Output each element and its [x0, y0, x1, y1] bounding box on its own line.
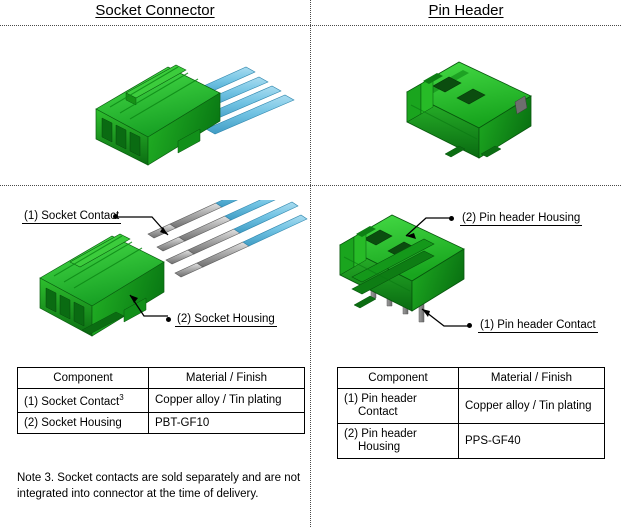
socket-spec-table: Component Material / Finish (1) Socket C…: [17, 367, 305, 434]
socket-housing-body: [96, 65, 220, 165]
table-row: (1) Pin header Contact Copper alloy / Ti…: [338, 389, 605, 424]
callout-socket-contact-leader: [116, 208, 176, 240]
table-cell-component: (2) Socket Housing: [18, 412, 149, 433]
table-row: (1) Socket Contact3 Copper alloy / Tin p…: [18, 389, 305, 413]
table-row-header: Component Material / Finish: [338, 368, 605, 389]
table-header-material: Material / Finish: [149, 368, 305, 389]
table-cell-material: Copper alloy / Tin plating: [149, 389, 305, 413]
footnote-text: Note 3. Socket contacts are sold separat…: [17, 470, 307, 502]
table-cell-component-text: (1) Socket Contact: [24, 396, 119, 408]
socket-connector-3d-icon: [60, 45, 310, 180]
table-cell-component-line1: (1) Pin header: [344, 393, 417, 405]
callout-pin-header-housing-leader: [404, 214, 452, 246]
callout-socket-housing-label: (2) Socket Housing: [175, 312, 277, 327]
table-cell-component-line2: Contact: [344, 406, 398, 419]
pin-header-assembled-image: [385, 50, 600, 175]
table-row: (2) Pin header Housing PPS-GF40: [338, 424, 605, 459]
pin-header-3d-icon: [385, 50, 600, 175]
callout-pin-header-housing-label: (2) Pin header Housing: [460, 211, 582, 226]
divider-vertical-center: [310, 0, 311, 527]
table-cell-component: (1) Socket Contact3: [18, 389, 149, 413]
table-cell-material: PBT-GF10: [149, 412, 305, 433]
table-cell-component-line2: Housing: [344, 441, 400, 454]
table-row-header: Component Material / Finish: [18, 368, 305, 389]
datasheet-page: Socket Connector Pin Header: [0, 0, 621, 527]
table-cell-material: PPS-GF40: [459, 424, 605, 459]
table-cell-note-ref: 3: [119, 393, 123, 402]
callout-pin-header-contact-leader: [420, 305, 470, 335]
callout-socket-housing-leader: [128, 292, 174, 326]
table-row: (2) Socket Housing PBT-GF10: [18, 412, 305, 433]
table-cell-component-line1: (2) Pin header: [344, 428, 417, 440]
page-title-socket-connector: Socket Connector: [0, 2, 310, 19]
page-title-pin-header: Pin Header: [311, 2, 621, 19]
table-header-component: Component: [18, 368, 149, 389]
table-cell-component: (1) Pin header Contact: [338, 389, 459, 424]
table-cell-material: Copper alloy / Tin plating: [459, 389, 605, 424]
table-cell-component: (2) Pin header Housing: [338, 424, 459, 459]
callout-socket-contact-label: (1) Socket Contact: [22, 209, 121, 224]
table-header-component: Component: [338, 368, 459, 389]
callout-pin-header-contact-label: (1) Pin header Contact: [478, 318, 598, 333]
socket-connector-assembled-image: [60, 45, 310, 180]
pin-header-spec-table: Component Material / Finish (1) Pin head…: [337, 367, 605, 459]
table-header-material: Material / Finish: [459, 368, 605, 389]
